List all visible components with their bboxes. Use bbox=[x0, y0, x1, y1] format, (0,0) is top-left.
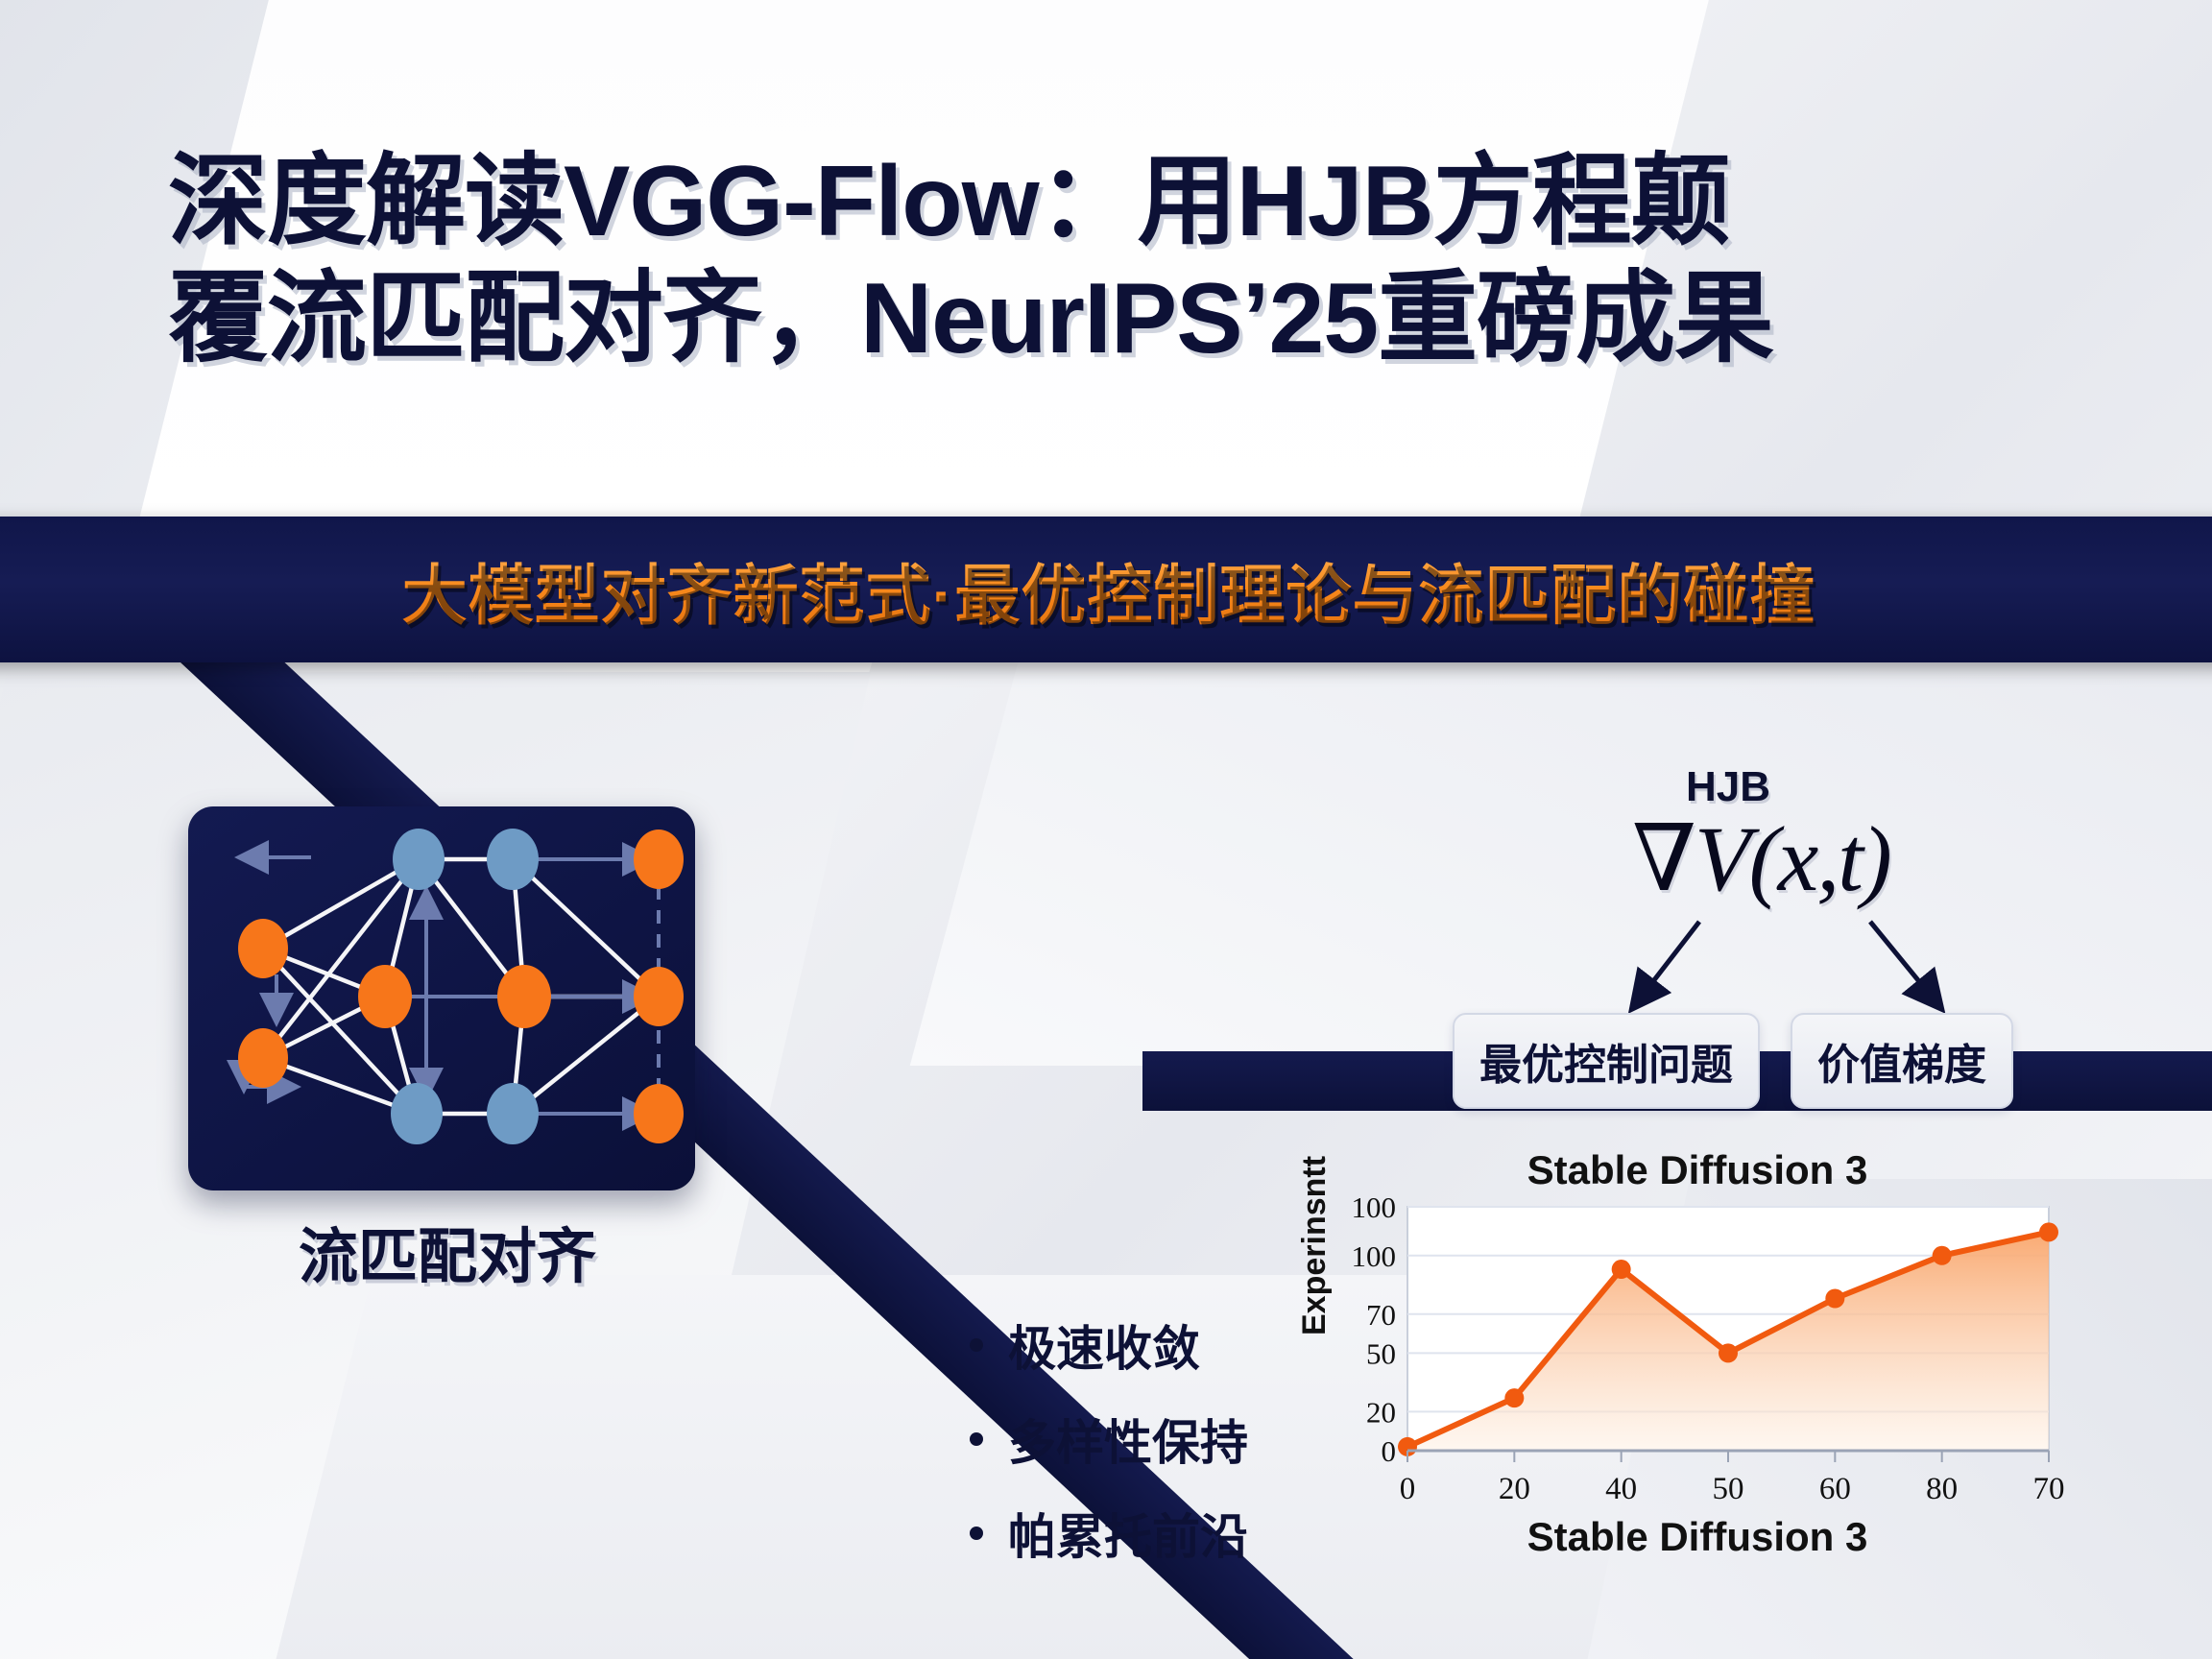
chart-data-point bbox=[1612, 1260, 1631, 1279]
chart-x-tick: 70 bbox=[2033, 1472, 2065, 1506]
chart-data-point bbox=[1719, 1343, 1738, 1362]
chart-y-axis-label: Experinsntt bbox=[1296, 1156, 1334, 1335]
arrow-to-left-pill bbox=[1634, 922, 1699, 1006]
subtitle-banner-text: 大模型对齐新范式·最优控制理论与流匹配的碰撞 bbox=[402, 542, 1816, 637]
nabla-icon: ∇ bbox=[1632, 807, 1695, 910]
bullet-dot-icon bbox=[970, 1432, 983, 1446]
bullet-dot-icon bbox=[970, 1527, 983, 1540]
chart-container: Stable Diffusion 3 Experinsntt 020507010… bbox=[1294, 1147, 2072, 1551]
pill-value-gradient[interactable]: 价值梯度 bbox=[1791, 1013, 2013, 1109]
chart-x-tick: 20 bbox=[1499, 1472, 1530, 1506]
hjb-formula-body: V(x,t) bbox=[1695, 807, 1890, 910]
chart-y-tick: 20 bbox=[1366, 1395, 1396, 1429]
chart-y-tick: 100 bbox=[1352, 1239, 1397, 1273]
bullet-label: 多样性保持 bbox=[1008, 1405, 1248, 1474]
chart-y-tick: 100 bbox=[1352, 1193, 1397, 1224]
chart-x-tick: 40 bbox=[1605, 1472, 1637, 1506]
network-diagram-caption: 流匹配对齐 bbox=[188, 1208, 707, 1294]
arrow-to-right-pill bbox=[1870, 922, 1939, 1006]
list-item: 多样性保持 bbox=[970, 1405, 1248, 1474]
chart-x-tick: 80 bbox=[1926, 1472, 1958, 1506]
chart-data-point bbox=[2039, 1222, 2058, 1241]
pill-optimal-control[interactable]: 最优控制问题 bbox=[1453, 1013, 1760, 1109]
hjb-formula: ∇V(x,t) bbox=[1632, 811, 1890, 908]
chart-data-point bbox=[1825, 1289, 1844, 1309]
chart-x-tick: 0 bbox=[1400, 1472, 1416, 1506]
chart-x-tick: 50 bbox=[1713, 1472, 1744, 1506]
title-line-2: 覆流匹配对齐，NeurIPS’25重磅成果 bbox=[168, 261, 2079, 378]
chart-plot: 02050701001000204050608070 bbox=[1294, 1193, 2072, 1510]
list-item: 帕累托前沿 bbox=[970, 1499, 1248, 1568]
hjb-block: HJB ∇V(x,t) bbox=[1632, 763, 1890, 908]
network-diagram-svg bbox=[188, 806, 695, 1190]
bullet-dot-icon bbox=[970, 1338, 983, 1352]
chart-data-point bbox=[1504, 1388, 1524, 1407]
list-item: 极速收敛 bbox=[970, 1310, 1248, 1380]
subtitle-banner: 大模型对齐新范式·最优控制理论与流匹配的碰撞 bbox=[0, 517, 2212, 662]
network-nodes bbox=[238, 829, 684, 1144]
poster-root: 深度解读VGG-Flow：用HJB方程颠 覆流匹配对齐，NeurIPS’25重磅… bbox=[0, 0, 2212, 1659]
feature-bullet-list: 极速收敛 多样性保持 帕累托前沿 bbox=[970, 1310, 1248, 1593]
chart-y-tick: 50 bbox=[1366, 1336, 1396, 1370]
network-diagram-card bbox=[188, 806, 695, 1190]
network-edges bbox=[263, 859, 659, 1114]
chart-x-tick: 60 bbox=[1819, 1472, 1851, 1506]
hjb-pill-row: 最优控制问题 价值梯度 bbox=[1453, 1013, 2013, 1109]
chart-y-tick: 0 bbox=[1382, 1434, 1397, 1468]
bullet-label: 极速收敛 bbox=[1008, 1310, 1200, 1380]
chart-title: Stable Diffusion 3 bbox=[1323, 1147, 2072, 1193]
bullet-label: 帕累托前沿 bbox=[1008, 1499, 1248, 1568]
chart-x-axis-label: Stable Diffusion 3 bbox=[1323, 1514, 2072, 1560]
chart-data-point bbox=[1933, 1246, 1952, 1265]
page-title: 深度解读VGG-Flow：用HJB方程颠 覆流匹配对齐，NeurIPS’25重磅… bbox=[168, 144, 2079, 377]
title-line-1: 深度解读VGG-Flow：用HJB方程颠 bbox=[168, 144, 2079, 261]
subtitle-banner-inner: 大模型对齐新范式·最优控制理论与流匹配的碰撞 bbox=[0, 517, 2212, 662]
background-shard-a bbox=[0, 0, 1084, 787]
chart-y-tick: 70 bbox=[1366, 1298, 1396, 1332]
hjb-label: HJB bbox=[1686, 763, 1890, 811]
